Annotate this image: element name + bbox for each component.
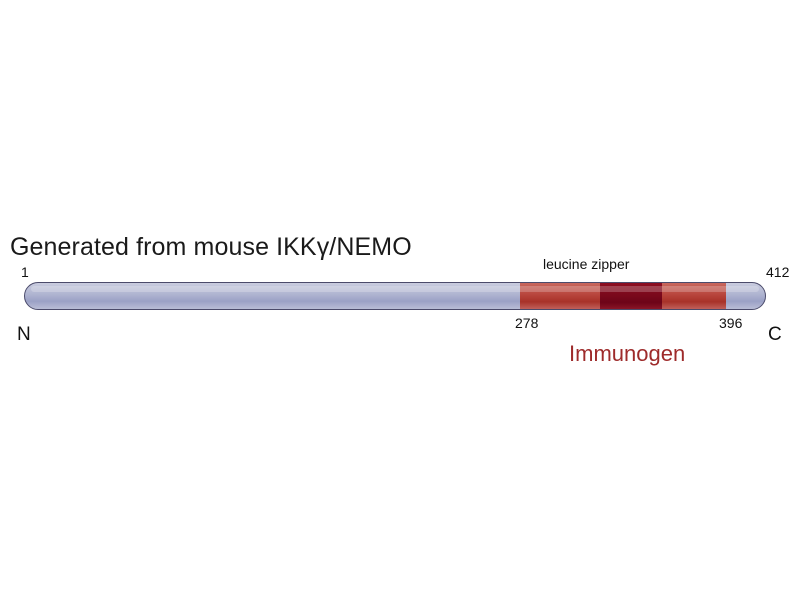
figure-canvas: Generated from mouse IKKγ/NEMO 1 412 leu…: [0, 0, 800, 600]
protein-backbone: [24, 282, 766, 310]
leucine-zipper-region: [600, 283, 662, 309]
figure-title: Generated from mouse IKKγ/NEMO: [10, 233, 412, 262]
immunogen-caption: Immunogen: [569, 341, 685, 367]
protein-diagram: [24, 282, 766, 310]
immunogen-start-label: 278: [515, 315, 538, 331]
c-terminus-label: C: [768, 324, 782, 346]
immunogen-end-label: 396: [719, 315, 742, 331]
residue-label-start: 1: [21, 264, 29, 280]
residue-label-end: 412: [766, 264, 789, 280]
leucine-zipper-label: leucine zipper: [543, 256, 629, 272]
n-terminus-label: N: [17, 324, 31, 346]
